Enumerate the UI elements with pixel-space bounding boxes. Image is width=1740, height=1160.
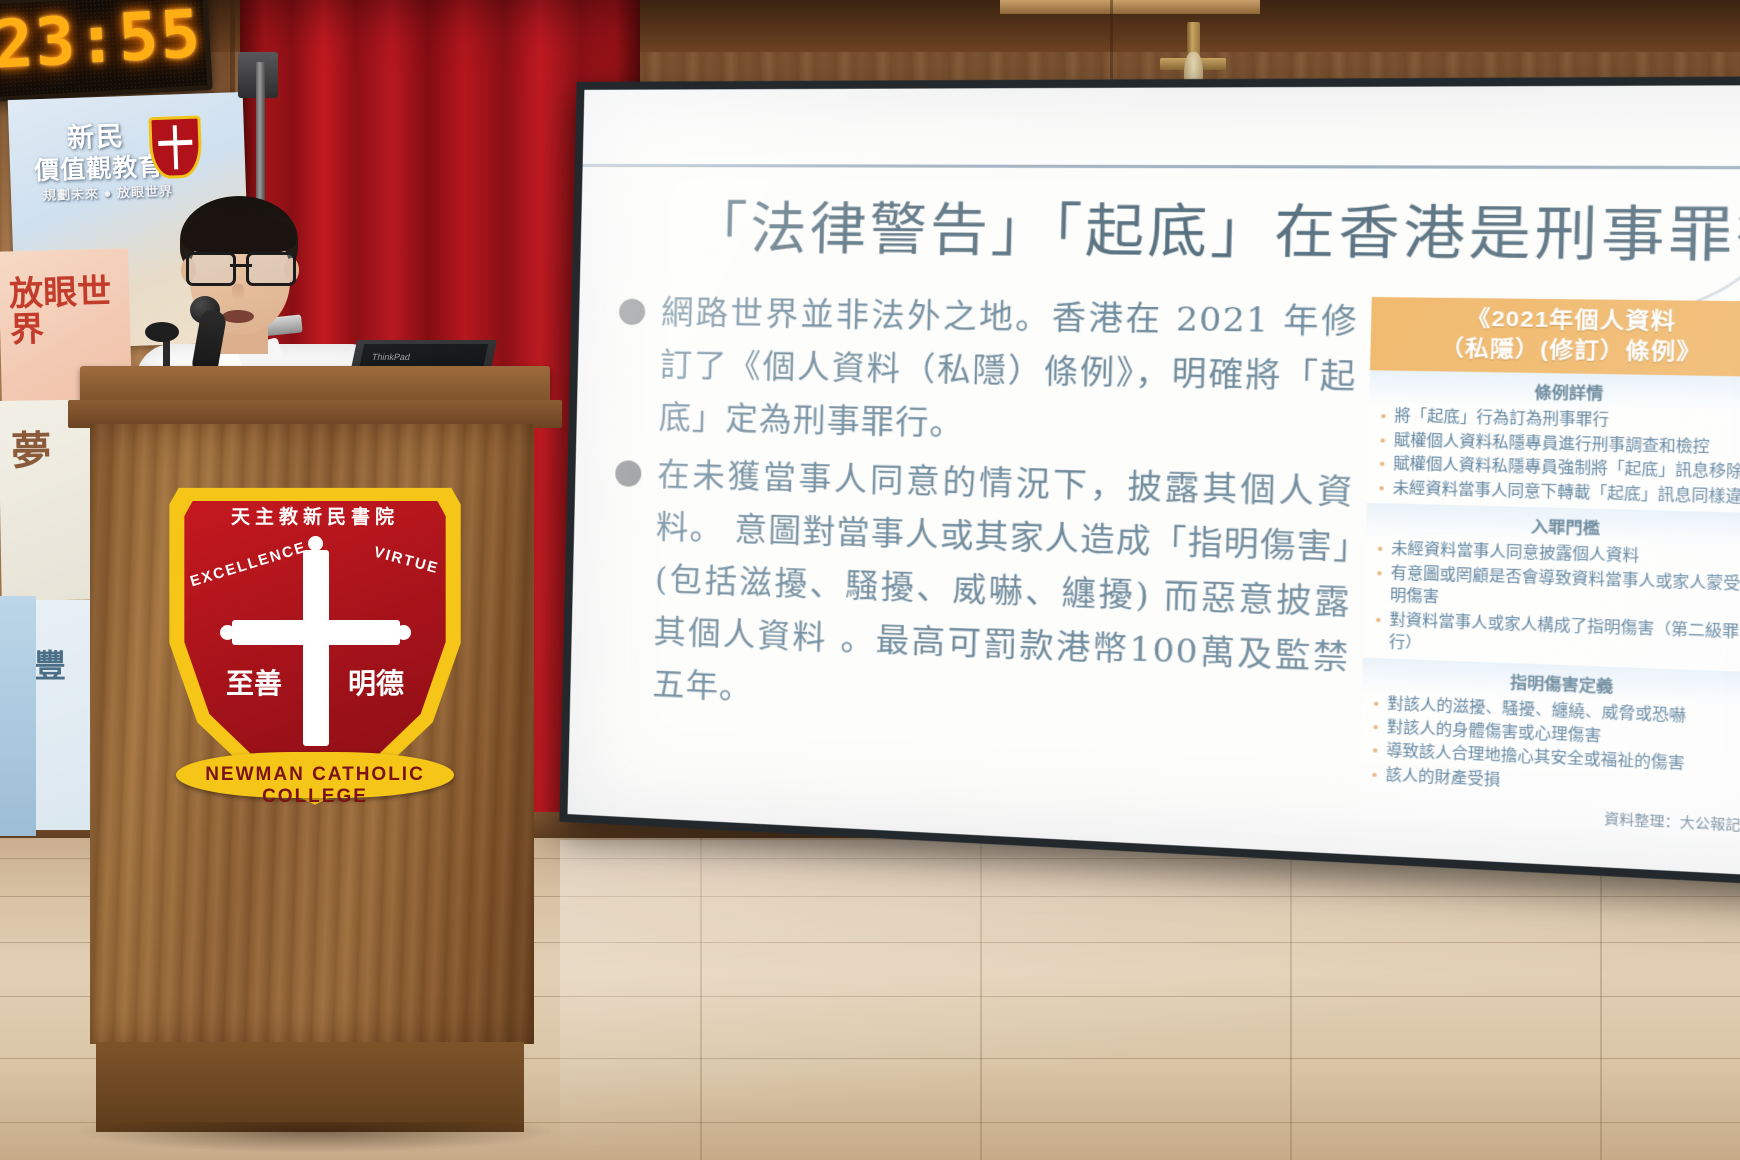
glasses-icon <box>186 252 296 282</box>
info-section-list: 未經資料當事人同意披露個人資料 有意圖或罔顧是否會導致資料當事人或家人蒙受指明傷… <box>1363 537 1740 672</box>
crest-ribbon: NEWMAN CATHOLIC COLLEGE <box>158 736 472 814</box>
led-clock: 23:55 <box>0 0 213 102</box>
bullet-text: 網路世界並非法外之地。香港在 2021 年修訂了《個人資料（私隱）條例》，明確將… <box>658 287 1358 460</box>
law-info-panel: 《2021年個人資料 （私隱）(修訂）條例》 條例詳情 將「起底」行為訂為刑事罪… <box>1359 297 1740 840</box>
slide-bullet-list: 網路世界並非法外之地。香港在 2021 年修訂了《個人資料（私隱）條例》，明確將… <box>610 287 1359 747</box>
ceiling-light-strip <box>1000 0 1260 14</box>
wooden-podium: 天主教新民書院 EXCELLENCE VIRTUE 至善 明德 NEWMAN C… <box>62 366 562 1160</box>
school-crest: 天主教新民書院 EXCELLENCE VIRTUE 至善 明德 NEWMAN C… <box>160 478 470 848</box>
bullet-dot-icon <box>619 299 646 325</box>
crest-char-right: 明德 <box>348 662 404 702</box>
bullet-dot-icon <box>615 461 642 488</box>
crest-top-text: 天主教新民書院 <box>160 502 470 529</box>
crest-ribbon-text: NEWMAN CATHOLIC COLLEGE <box>158 764 472 808</box>
poster-text: 夢 <box>11 430 52 473</box>
info-panel-heading-line2: （私隱）(修訂）條例》 <box>1375 333 1740 369</box>
info-section-list: 對該人的滋擾、騷擾、纏繞、威脅或恐嚇 對該人的身體傷害或心理傷害 導致該人合理地… <box>1360 691 1740 808</box>
bullet-item: 在未獲當事人同意的情況下，披露其個人資料。 意圖對當事人或其家人造成「指明傷害」… <box>610 449 1354 741</box>
info-section-list: 將「起底」行為訂為刑事罪行 賦權個人資料私隱專員進行刑事調查和檢控 賦權個人資料… <box>1367 405 1740 514</box>
wall-poster-strip <box>0 596 36 836</box>
banner-crest-icon <box>148 115 202 179</box>
bullet-item: 網路世界並非法外之地。香港在 2021 年修訂了《個人資料（私隱）條例》，明確將… <box>616 287 1358 460</box>
photo-scene: 23:55 新民 價值觀教育 規劃未來 ● 放眼世界 放眼世 界 夢 豐 「法律… <box>0 0 1740 1160</box>
presentation-slide: 「法律警告」「起底」在香港是刑事罪行！ 網路世界並非法外之地。香港在 2021 … <box>567 85 1740 879</box>
decorative-line-art <box>1500 96 1740 327</box>
crest-char-left: 至善 <box>226 662 282 702</box>
clock-time-display: 23:55 <box>0 0 207 84</box>
floor-reflection <box>560 840 1740 1160</box>
screen-surface: 「法律警告」「起底」在香港是刑事罪行！ 網路世界並非法外之地。香港在 2021 … <box>567 85 1740 879</box>
projection-screen: 「法律警告」「起底」在香港是刑事罪行！ 網路世界並非法外之地。香港在 2021 … <box>559 76 1740 888</box>
info-panel-heading: 《2021年個人資料 （私隱）(修訂）條例》 <box>1370 297 1740 377</box>
laptop-brand-label: ThinkPad <box>371 352 411 362</box>
poster-text: 放眼世 界 <box>9 274 131 348</box>
bullet-text: 在未獲當事人同意的情況下，披露其個人資料。 意圖對當事人或其家人造成「指明傷害」… <box>652 450 1354 741</box>
